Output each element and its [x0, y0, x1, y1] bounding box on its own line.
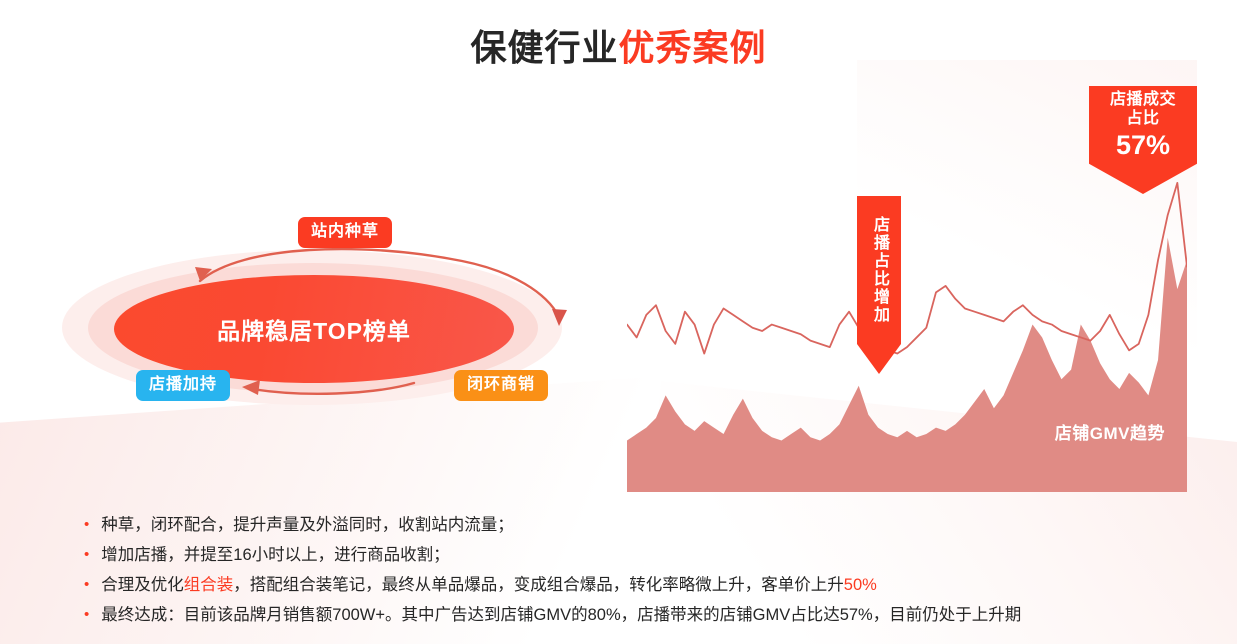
bullet-text-segment: 增加店播，并提至16小时以上，进行商品收割；: [101, 546, 449, 564]
bullet-text-segment: 最终达成：目前该品牌月销售额700W+。其中广告达到店铺GMV的80%，店播带来…: [101, 606, 1021, 624]
share-pennant-line1: 店播成交: [1089, 91, 1197, 110]
bullet-text-highlight: 组合装: [184, 576, 234, 594]
page-title-primary: 保健行业: [470, 27, 618, 68]
bullet-dot-icon: •: [84, 577, 89, 592]
bullet-text-segment: ，搭配组合装笔记，最终从单品爆品，变成组合爆品，转化率略微上升，客单价上升: [233, 576, 844, 594]
cycle-tag-right[interactable]: 闭环商销: [454, 370, 548, 401]
bullet-text: 合理及优化组合装，搭配组合装笔记，最终从单品爆品，变成组合爆品，转化率略微上升，…: [101, 574, 877, 598]
live-share-line-series: [627, 183, 1187, 354]
bullet-item: •增加店播，并提至16小时以上，进行商品收割；: [84, 544, 1204, 568]
cycle-center-label: 品牌稳居TOP榜单: [114, 275, 514, 383]
share-pennant-callout: 店播成交 占比 57%: [1089, 86, 1197, 194]
cycle-tag-left[interactable]: 店播加持: [136, 370, 230, 401]
gmv-area-series: [627, 238, 1187, 492]
bullet-dot-icon: •: [84, 547, 89, 562]
bullet-item: •种草，闭环配合，提升声量及外溢同时，收割站内流量；: [84, 514, 1204, 538]
bullet-text: 最终达成：目前该品牌月销售额700W+。其中广告达到店铺GMV的80%，店播带来…: [101, 604, 1021, 628]
bullet-text: 种草，闭环配合，提升声量及外溢同时，收割站内流量；: [101, 514, 514, 538]
gmv-trend-chart: 店铺GMV趋势: [627, 170, 1187, 492]
share-pennant-value: 57%: [1089, 130, 1197, 162]
cycle-tag-top[interactable]: 站内种草: [298, 217, 392, 248]
slide-canvas: 保健行业优秀案例 品牌稳居TOP榜单 站内种草 店播加持 闭环商销 店铺GMV趋…: [0, 0, 1237, 644]
bullet-dot-icon: •: [84, 517, 89, 532]
bullet-text-segment: 合理及优化: [101, 576, 184, 594]
share-pennant-line2: 占比: [1089, 110, 1197, 129]
page-title-highlight: 优秀案例: [619, 27, 767, 68]
bullet-dot-icon: •: [84, 607, 89, 622]
bullet-item: •最终达成：目前该品牌月销售额700W+。其中广告达到店铺GMV的80%，店播带…: [84, 604, 1204, 628]
bullet-text-highlight: 50%: [844, 576, 877, 594]
growth-arrow-tip-icon: [857, 344, 901, 374]
growth-arrow-callout: 店播占比增加: [857, 196, 901, 374]
chart-watermark-label: 店铺GMV趋势: [1055, 419, 1165, 444]
bullet-text: 增加店播，并提至16小时以上，进行商品收割；: [101, 544, 449, 568]
brand-cycle-diagram: 品牌稳居TOP榜单 站内种草 店播加持 闭环商销: [62, 205, 632, 420]
summary-bullet-list: •种草，闭环配合，提升声量及外溢同时，收割站内流量；•增加店播，并提至16小时以…: [84, 514, 1204, 634]
share-pennant-content: 店播成交 占比 57%: [1089, 91, 1197, 162]
bullet-item: •合理及优化组合装，搭配组合装笔记，最终从单品爆品，变成组合爆品，转化率略微上升…: [84, 574, 1204, 598]
page-title: 保健行业优秀案例: [0, 26, 1237, 69]
growth-arrow-label: 店播占比增加: [857, 196, 901, 344]
bullet-text-segment: 种草，闭环配合，提升声量及外溢同时，收割站内流量；: [101, 516, 514, 534]
